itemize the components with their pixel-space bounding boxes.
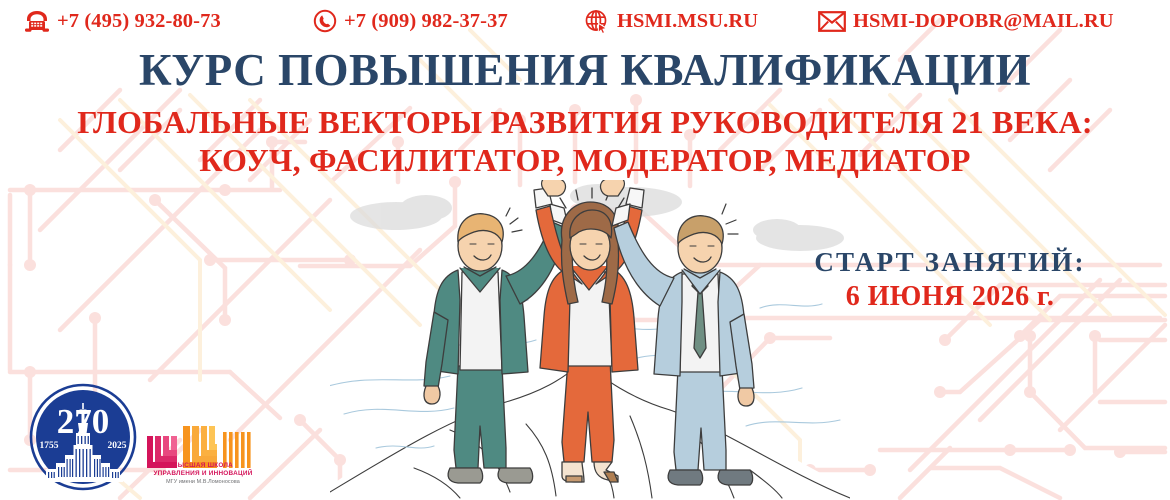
contact-phone-landline-label: +7 (495) 932-80-73 [57,10,221,33]
contact-bar: +7 (495) 932-80-73 +7 (909) 982-37-37 [0,0,1170,42]
hsmi-wordmark-line-2: УПРАВЛЕНИЯ И ИННОВАЦИЙ [143,470,263,478]
subtitle-line-2: КОУЧ, ФАСИЛИТАТОР, МОДЕРАТОР, МЕДИАТОР [0,142,1170,178]
msu-270-anniversary-seal: 270 1755 2025 [29,383,137,491]
hsmi-wordmark-line-3: МГУ имени М.В.Ломоносова [143,478,263,486]
start-date-value: 6 ИЮНЯ 2026 г. [790,280,1110,313]
globe-cursor-icon [584,8,610,34]
celebration-illustration [330,180,850,500]
contact-phone-mobile[interactable]: +7 (909) 982-37-37 [313,9,508,33]
telephone-icon [24,9,50,33]
contact-website[interactable]: HSMI.MSU.RU [584,8,758,34]
contact-website-label: HSMI.MSU.RU [617,10,758,33]
promo-banner: +7 (495) 932-80-73 +7 (909) 982-37-37 [0,0,1170,500]
contact-phone-mobile-label: +7 (909) 982-37-37 [344,10,508,33]
hsmi-wordmark-line-1: ВЫСШАЯ ШКОЛА [143,462,263,470]
seal-year-from: 1755 [40,441,59,451]
contact-email[interactable]: HSMI-DOPOBR@MAIL.RU [818,10,1114,33]
page-title: КУРС ПОВЫШЕНИЯ КВАЛИФИКАЦИИ [0,45,1170,95]
envelope-icon [818,11,846,32]
mobile-phone-icon [313,9,337,33]
hsmi-wordmark: ВЫСШАЯ ШКОЛА УПРАВЛЕНИЯ И ИННОВАЦИЙ МГУ … [143,462,263,486]
start-date-block: СТАРТ ЗАНЯТИЙ: 6 ИЮНЯ 2026 г. [790,246,1110,313]
start-date-label: СТАРТ ЗАНЯТИЙ: [790,246,1110,278]
subtitle-line-1: ГЛОБАЛЬНЫЕ ВЕКТОРЫ РАЗВИТИЯ РУКОВОДИТЕЛЯ… [0,104,1170,140]
contact-email-label: HSMI-DOPOBR@MAIL.RU [853,10,1114,33]
contact-phone-landline[interactable]: +7 (495) 932-80-73 [24,9,221,33]
seal-year-to: 2025 [108,441,127,451]
